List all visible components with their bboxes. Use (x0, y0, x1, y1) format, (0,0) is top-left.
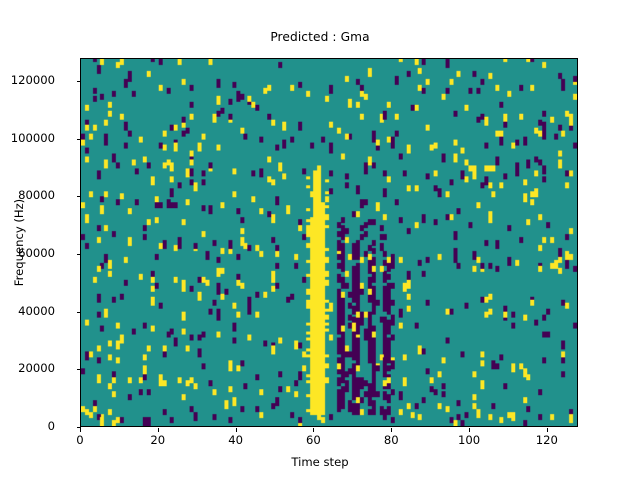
x-tick-label: 60 (306, 433, 321, 447)
chart-title: Predicted : Gma (0, 30, 640, 44)
x-tick-label: 80 (384, 433, 399, 447)
x-tick-label: 120 (536, 433, 558, 447)
y-tick-mark (77, 312, 81, 313)
y-tick-label: 40000 (18, 304, 55, 318)
y-tick-label: 0 (48, 419, 55, 433)
x-tick-mark (469, 428, 470, 432)
x-axis-label: Time step (0, 455, 640, 469)
y-tick-label: 120000 (11, 73, 55, 87)
y-tick-label: 80000 (18, 188, 55, 202)
y-tick-mark (77, 139, 81, 140)
heatmap-canvas[interactable] (81, 59, 577, 426)
x-tick-label: 20 (150, 433, 165, 447)
x-tick-mark (313, 428, 314, 432)
heatmap-axes[interactable] (80, 58, 578, 427)
y-tick-label: 60000 (18, 246, 55, 260)
y-tick-mark (77, 254, 81, 255)
y-tick-label: 20000 (18, 361, 55, 375)
y-tick-label: 100000 (11, 131, 55, 145)
x-tick-mark (158, 428, 159, 432)
matplotlib-figure: Predicted : Gma Frequency (Hz) 020000400… (0, 0, 640, 480)
x-tick-mark (236, 428, 237, 432)
y-tick-mark (77, 369, 81, 370)
y-tick-mark (77, 196, 81, 197)
x-tick-mark (391, 428, 392, 432)
x-tick-label: 40 (228, 433, 243, 447)
x-tick-label: 100 (458, 433, 480, 447)
x-tick-mark (80, 428, 81, 432)
x-tick-mark (547, 428, 548, 432)
x-tick-label: 0 (76, 433, 83, 447)
y-tick-mark (77, 81, 81, 82)
